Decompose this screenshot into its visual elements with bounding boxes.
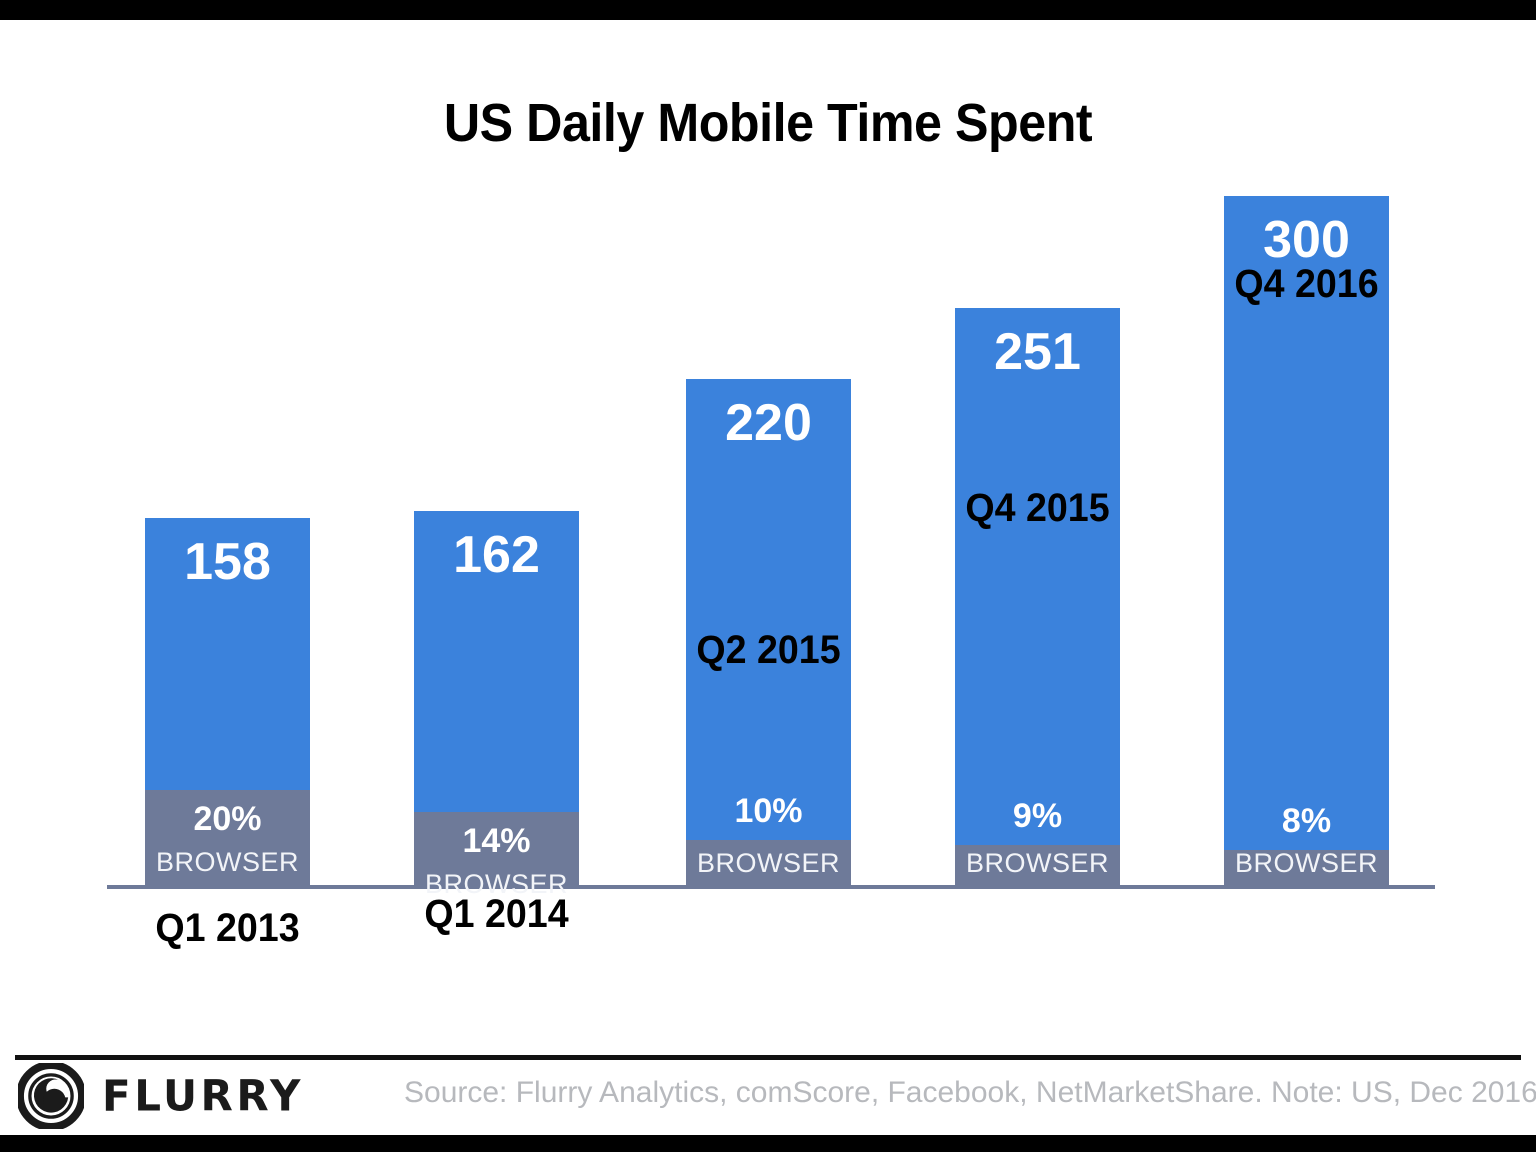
source-note: Source: Flurry Analytics, comScore, Face… — [404, 1078, 1536, 1108]
bar-value-label: 220 — [686, 397, 851, 449]
bar-group[interactable]: 2519%BROWSERQ4 2015 — [955, 308, 1120, 885]
browser-caption: BROWSER — [145, 849, 310, 876]
browser-caption: BROWSER — [1224, 850, 1389, 877]
brand-wordmark: FLURRY — [102, 1075, 304, 1118]
brand-logo: FLURRY — [18, 1062, 304, 1130]
x-axis-tick-label: Q1 2014 — [398, 894, 594, 934]
top-black-band — [0, 0, 1536, 20]
bar-group[interactable]: 22010%BROWSERQ2 2015 — [686, 379, 851, 885]
x-axis-tick-label: Q1 2013 — [129, 908, 325, 948]
footer-divider — [15, 1055, 1521, 1060]
browser-percent-label: 20% — [145, 802, 310, 836]
x-axis-tick-label: Q4 2015 — [939, 488, 1135, 528]
page-title: US Daily Mobile Time Spent — [54, 92, 1482, 154]
x-axis-line — [107, 885, 1435, 889]
browser-percent-label: 10% — [686, 794, 851, 828]
browser-percent-label: 14% — [414, 824, 579, 858]
bottom-black-band — [0, 1135, 1536, 1152]
bar-value-label: 162 — [414, 529, 579, 581]
chart-plot-area: 15820%BROWSERQ1 201316214%BROWSERQ1 2014… — [107, 170, 1435, 885]
bar-value-label: 300 — [1224, 214, 1389, 266]
bar-group[interactable]: 15820%BROWSERQ1 2013 — [145, 518, 310, 885]
browser-percent-label: 9% — [955, 799, 1120, 833]
bar-value-label: 158 — [145, 536, 310, 588]
bar-group[interactable]: 16214%BROWSERQ1 2014 — [414, 511, 579, 885]
browser-caption: BROWSER — [686, 850, 851, 877]
slide-root: US Daily Mobile Time Spent 15820%BROWSER… — [0, 0, 1536, 1152]
browser-percent-label: 8% — [1224, 804, 1389, 838]
flurry-logo-icon — [18, 1063, 84, 1129]
x-axis-tick-label: Q2 2015 — [670, 630, 866, 670]
x-axis-tick-label: Q4 2016 — [1208, 264, 1404, 304]
bar-value-label: 251 — [955, 326, 1120, 378]
browser-caption: BROWSER — [955, 850, 1120, 877]
bar-group[interactable]: 3008%BROWSERQ4 2016 — [1224, 196, 1389, 885]
